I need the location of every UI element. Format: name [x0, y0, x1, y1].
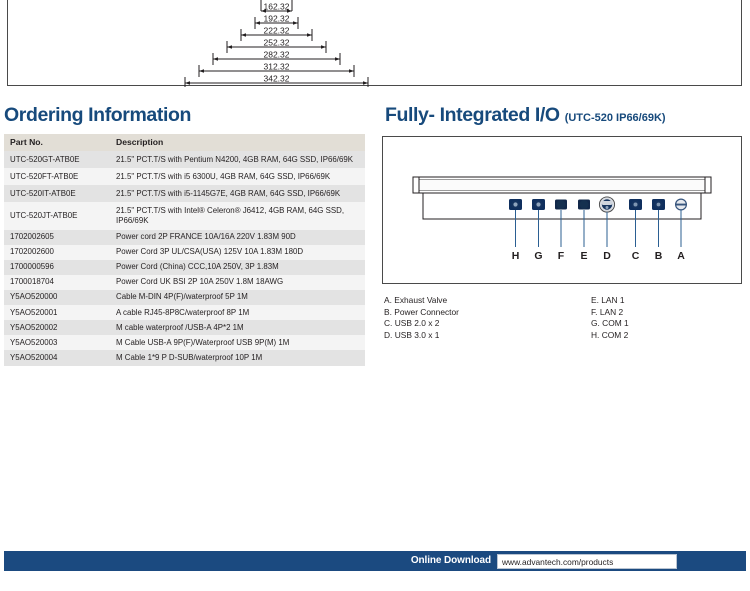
column-header-part-no: Part No. [4, 134, 110, 151]
footer-url-box[interactable]: www.advantech.com/products [497, 554, 677, 569]
io-heading-subtitle: (UTC-520 IP66/69K) [565, 112, 666, 124]
cell-part-no: 1702002605 [4, 230, 110, 245]
dimension-label: 252.32 [264, 38, 290, 48]
table-row: UTC-520JT-ATB0E21.5" PCT.T/S with Intel®… [4, 202, 365, 229]
io-legend-column-left: A. Exhaust ValveB. Power ConnectorC. USB… [384, 295, 459, 341]
table-row: Y5AO520003M Cable USB-A 9P(F)/Waterproof… [4, 335, 365, 350]
table-row: 1702002600Power Cord 3P UL/CSA(USA) 125V… [4, 245, 365, 260]
cell-part-no: UTC-520IT-ATB0E [4, 185, 110, 202]
cell-part-no: 1700000596 [4, 260, 110, 275]
dimension-label: 312.32 [264, 62, 290, 72]
connector-exhaust-valve-icon [675, 199, 686, 210]
cell-description: M Cable 1*9 P D-SUB/waterproof 10P 1M [110, 350, 365, 365]
table-row: Y5AO520001A cable RJ45-8P8C/waterproof 8… [4, 305, 365, 320]
cell-part-no: 1702002600 [4, 245, 110, 260]
io-callout-letter: E [580, 250, 587, 262]
io-callout-letter: H [512, 250, 520, 262]
io-callout-letter: G [534, 250, 542, 262]
io-callout-letter: D [603, 250, 611, 262]
dimension-label: 222.32 [264, 26, 290, 36]
io-legend-item: E. LAN 1 [591, 295, 629, 307]
column-header-description: Description [110, 134, 365, 151]
ordering-information-heading: Ordering Information [4, 104, 191, 127]
ordering-information-table: Part No. Description UTC-520GT-ATB0E21.5… [4, 134, 365, 366]
io-legend-item: C. USB 2.0 x 2 [384, 318, 459, 330]
cell-description: Power Cord (China) CCC,10A 250V, 3P 1.83… [110, 260, 365, 275]
io-legend-item: B. Power Connector [384, 307, 459, 319]
connector-lan1-icon [578, 200, 590, 210]
footer-bar: Online Download www.advantech.com/produc… [4, 551, 746, 571]
dimension-label: 282.32 [264, 50, 290, 60]
table-row: Y5AO520000Cable M-DIN 4P(F)/waterproof 5… [4, 290, 365, 305]
connector-com2-icon [509, 199, 522, 210]
dimension-label: 192.32 [264, 14, 290, 24]
io-heading-text: Fully- Integrated I/O [385, 104, 560, 126]
io-section-heading: Fully- Integrated I/O(UTC-520 IP66/69K) [385, 104, 666, 127]
cell-part-no: UTC-520FT-ATB0E [4, 168, 110, 185]
footer-url-text: www.advantech.com/products [502, 557, 613, 567]
cell-description: M Cable USB-A 9P(F)/Waterproof USB 9P(M)… [110, 335, 365, 350]
cell-part-no: Y5AO520004 [4, 350, 110, 365]
io-callout-letter: B [655, 250, 663, 262]
io-legend-column-right: E. LAN 1F. LAN 2G. COM 1H. COM 2 [591, 295, 629, 341]
cell-description: Power Cord UK BSI 2P 10A 250V 1.8M 18AWG [110, 275, 365, 290]
cell-description: M cable waterproof /USB-A 4P*2 1M [110, 320, 365, 335]
connector-power-icon [652, 199, 665, 210]
cell-part-no: Y5AO520003 [4, 335, 110, 350]
cell-description: A cable RJ45-8P8C/waterproof 8P 1M [110, 305, 365, 320]
io-legend-item: H. COM 2 [591, 330, 629, 342]
cell-part-no: UTC-520JT-ATB0E [4, 202, 110, 229]
table-row: 1702002605Power cord 2P FRANCE 10A/16A 2… [4, 230, 365, 245]
io-connectors [509, 197, 687, 212]
io-legend-item: D. USB 3.0 x 1 [384, 330, 459, 342]
io-callout-letter: C [632, 250, 640, 262]
dimension-label: 162.32 [264, 2, 290, 12]
cell-description: 21.5" PCT.T/S with Intel® Celeron® J6412… [110, 202, 365, 229]
io-callout-letter: A [677, 250, 685, 262]
table-header-row: Part No. Description [4, 134, 365, 151]
io-legend-item: G. COM 1 [591, 318, 629, 330]
cell-part-no: Y5AO520000 [4, 290, 110, 305]
io-diagram-svg: H G F E D C B A [383, 137, 741, 283]
cell-part-no: Y5AO520002 [4, 320, 110, 335]
connector-usb20-icon [629, 199, 642, 210]
dimension-drawing-panel: 162.32 192.32 222.32 252.32 282.32 312.3… [7, 0, 742, 86]
cell-part-no: Y5AO520001 [4, 305, 110, 320]
connector-com1-icon [532, 199, 545, 210]
io-legend-item: A. Exhaust Valve [384, 295, 459, 307]
connector-usb30-icon [599, 197, 614, 212]
cell-part-no: UTC-520GT-ATB0E [4, 151, 110, 168]
cell-description: 21.5" PCT.T/S with Pentium N4200, 4GB RA… [110, 151, 365, 168]
dimension-drawing-svg: 162.32 192.32 222.32 252.32 282.32 312.3… [8, 0, 743, 87]
cell-part-no: 1700018704 [4, 275, 110, 290]
connector-lan2-icon [555, 200, 567, 210]
table-row: UTC-520FT-ATB0E21.5" PCT.T/S with i5 630… [4, 168, 365, 185]
io-legend-item: F. LAN 2 [591, 307, 629, 319]
cell-description: Power cord 2P FRANCE 10A/16A 220V 1.83M … [110, 230, 365, 245]
table-row: 1700000596Power Cord (China) CCC,10A 250… [4, 260, 365, 275]
table-row: Y5AO520002M cable waterproof /USB-A 4P*2… [4, 320, 365, 335]
cell-description: 21.5" PCT.T/S with i5-1145G7E, 4GB RAM, … [110, 185, 365, 202]
cell-description: 21.5" PCT.T/S with i5 6300U, 4GB RAM, 64… [110, 168, 365, 185]
io-callout-letter: F [558, 250, 565, 262]
dimension-label: 342.32 [264, 74, 290, 84]
table-row: 1700018704Power Cord UK BSI 2P 10A 250V … [4, 275, 365, 290]
table-row: UTC-520GT-ATB0E21.5" PCT.T/S with Pentiu… [4, 151, 365, 168]
cell-description: Power Cord 3P UL/CSA(USA) 125V 10A 1.83M… [110, 245, 365, 260]
table-row: UTC-520IT-ATB0E21.5" PCT.T/S with i5-114… [4, 185, 365, 202]
online-download-label: Online Download [411, 555, 491, 566]
table-row: Y5AO520004M Cable 1*9 P D-SUB/waterproof… [4, 350, 365, 365]
io-diagram-panel: H G F E D C B A [382, 136, 742, 284]
cell-description: Cable M-DIN 4P(F)/waterproof 5P 1M [110, 290, 365, 305]
